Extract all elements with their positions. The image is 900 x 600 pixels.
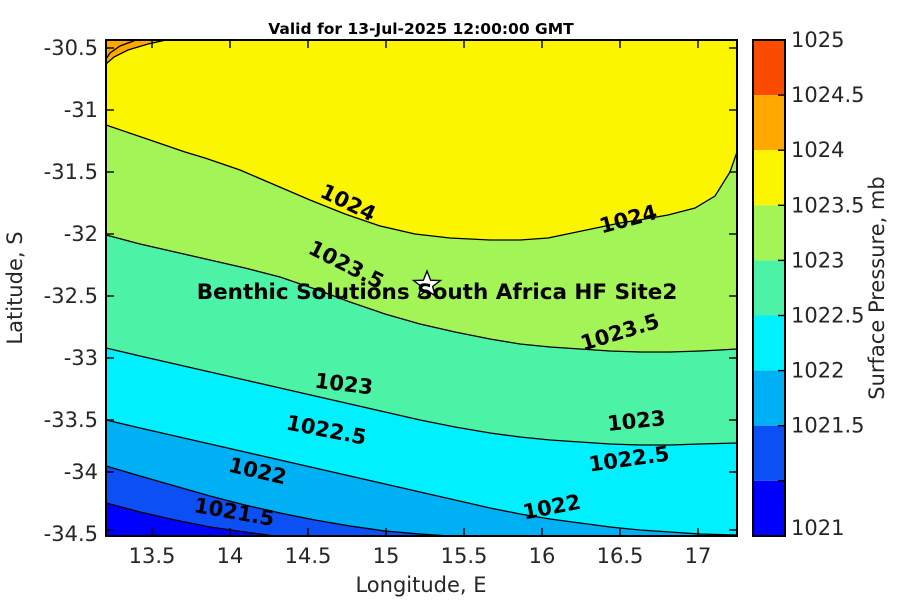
colorbar-tick-label: 1024 — [791, 138, 844, 162]
y-tick-label: -32.5 — [44, 284, 98, 308]
x-tick-label: 14.5 — [285, 544, 332, 568]
x-axis-title: Longitude, E — [355, 573, 486, 597]
contour-plot-figure: Valid for 13-Jul-2025 12:00:00 GMT — [0, 0, 900, 600]
y-tick-label: -32 — [64, 222, 98, 246]
colorbar-band — [753, 95, 785, 150]
colorbar-band — [753, 150, 785, 205]
colorbar-tick-label: 1022.5 — [791, 304, 864, 328]
colorbar-tick-label: 1025 — [791, 28, 844, 52]
x-tick-label: 15 — [373, 544, 400, 568]
colorbar-band — [753, 371, 785, 426]
plot-area: 1024 1024 1023.5 1023.5 1023 1023 1022.5… — [3, 36, 737, 597]
page-title: Valid for 13-Jul-2025 12:00:00 GMT — [268, 20, 574, 38]
y-axis-title: Latitude, S — [3, 231, 27, 344]
colorbar-tick-label: 1023 — [791, 248, 844, 272]
x-tick-label: 14 — [217, 544, 244, 568]
x-tick-label: 16 — [529, 544, 556, 568]
colorbar-band — [753, 40, 785, 95]
x-tick-label: 17 — [685, 544, 712, 568]
colorbar-band — [753, 260, 785, 315]
site-label: Benthic Solutions South Africa HF Site2 — [197, 280, 678, 305]
colorbar-tick-label: 1023.5 — [791, 193, 864, 217]
figure-canvas: Valid for 13-Jul-2025 12:00:00 GMT — [0, 0, 900, 600]
y-tick-label: -31 — [64, 98, 98, 122]
colorbar-tick-label: 1021 — [791, 516, 844, 540]
colorbar-tick-label: 1022 — [791, 359, 844, 383]
colorbar-tick-label: 1021.5 — [791, 414, 864, 438]
y-tick-label: -34.5 — [44, 522, 98, 546]
colorbar-band — [753, 481, 785, 536]
colorbar-band — [753, 316, 785, 371]
y-tick-label: -34 — [64, 460, 98, 484]
colorbar-title: Surface Pressure, mb — [865, 176, 889, 399]
y-tick-label: -33.5 — [44, 408, 98, 432]
colorbar-band — [753, 426, 785, 481]
y-tick-label: -30.5 — [44, 36, 98, 60]
colorbar-band — [753, 205, 785, 260]
y-tick-label: -31.5 — [44, 160, 98, 184]
x-tick-label: 16.5 — [597, 544, 644, 568]
colorbar-tick-label: 1024.5 — [791, 83, 864, 107]
x-tick-label: 13.5 — [129, 544, 176, 568]
y-tick-label: -33 — [64, 346, 98, 370]
x-tick-label: 15.5 — [441, 544, 488, 568]
